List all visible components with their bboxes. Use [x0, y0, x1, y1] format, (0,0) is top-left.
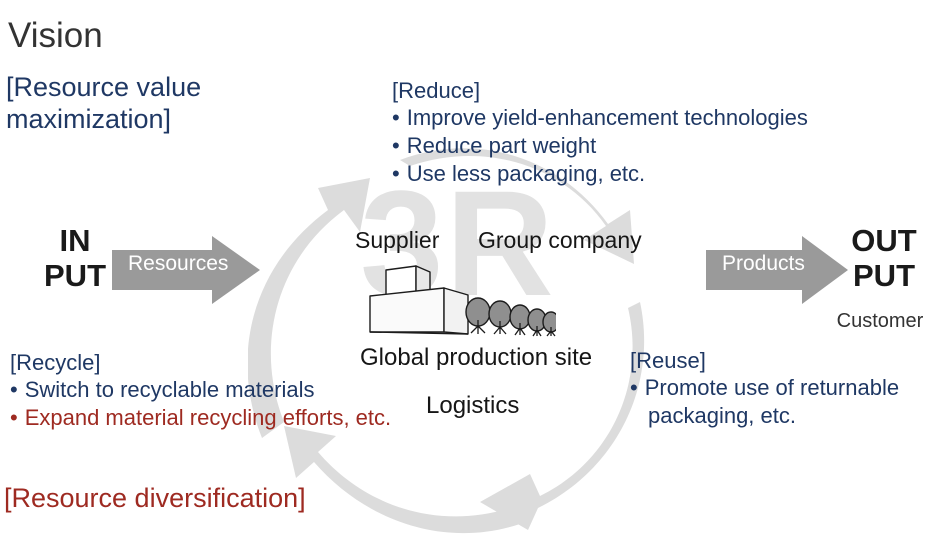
reuse-block: [Reuse] Promote use of returnable packag… — [630, 348, 930, 430]
list-item: Reduce part weight — [392, 132, 808, 160]
tree-row — [466, 298, 556, 336]
list-item: Improve yield-enhancement technologies — [392, 104, 808, 132]
label-supplier: Supplier — [355, 227, 439, 254]
vision-3r-diagram: Vision [Resource value maximization] 3R — [0, 0, 940, 550]
reduce-heading: [Reduce] — [392, 78, 808, 104]
label-global-production-site: Global production site — [360, 344, 592, 372]
label-logistics: Logistics — [426, 392, 519, 420]
resource-diversification-label: [Resource diversification] — [4, 483, 306, 514]
page-title: Vision — [8, 18, 103, 55]
recycle-block: [Recycle] Switch to recyclable materials… — [10, 350, 391, 432]
customer-label: Customer — [820, 310, 940, 333]
factory-illustration — [356, 262, 556, 348]
input-label: IN PUT — [30, 224, 120, 293]
resources-arrow-label: Resources — [128, 252, 228, 276]
output-label: OUT PUT — [838, 224, 930, 293]
label-group-company: Group company — [478, 227, 642, 254]
output-line-2: PUT — [838, 259, 930, 294]
vision-subtitle: [Resource value maximization] — [6, 72, 266, 136]
reuse-list: Promote use of returnable packaging, etc… — [630, 374, 930, 430]
output-line-1: OUT — [838, 224, 930, 259]
recycle-list: Switch to recyclable materials Expand ma… — [10, 376, 391, 432]
list-item: Switch to recyclable materials — [10, 376, 391, 404]
products-arrow-label: Products — [722, 252, 805, 276]
reuse-heading: [Reuse] — [630, 348, 930, 374]
list-item: Promote use of returnable packaging, etc… — [630, 374, 930, 430]
cycle-arc-bottom — [284, 426, 520, 533]
recycle-heading: [Recycle] — [10, 350, 391, 376]
list-item: Use less packaging, etc. — [392, 160, 808, 188]
reduce-block: [Reduce] Improve yield-enhancement techn… — [392, 78, 808, 188]
input-line-1: IN — [30, 224, 120, 259]
input-line-2: PUT — [30, 259, 120, 294]
list-item: Expand material recycling efforts, etc. — [10, 404, 391, 432]
reduce-list: Improve yield-enhancement technologies R… — [392, 104, 808, 188]
